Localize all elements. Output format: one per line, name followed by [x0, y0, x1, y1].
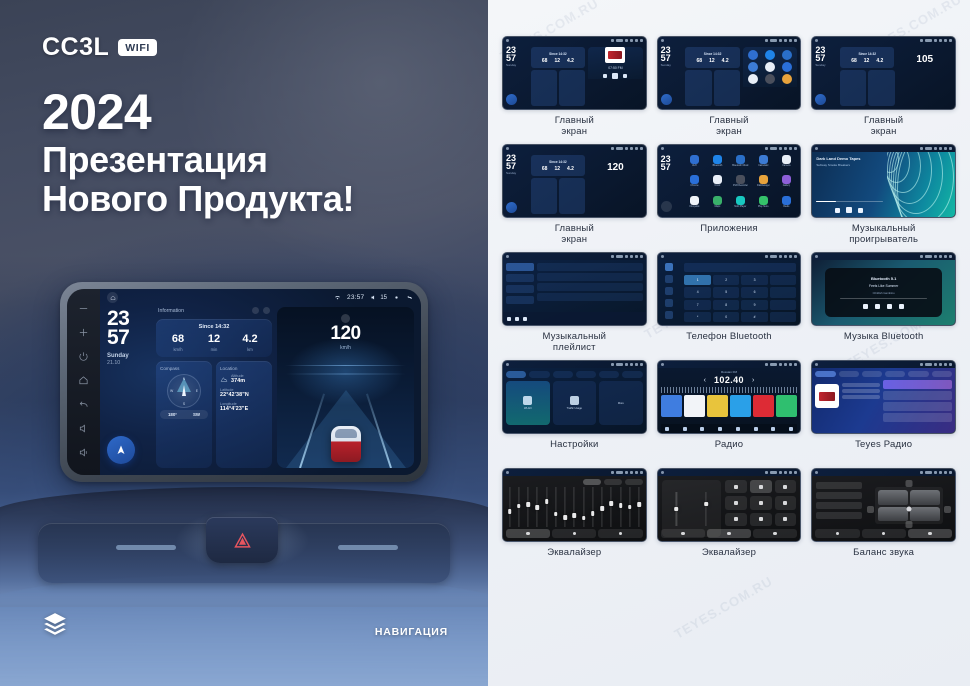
thumb-home-body: 2357SundaySince 14:3268124.2 [658, 44, 801, 109]
thumb-settings: WLANTraffic UsageMore [503, 368, 646, 433]
thumb-app-icon [765, 50, 775, 60]
thumb-app-icon [765, 62, 775, 72]
thumb-eq-slider [628, 487, 631, 527]
thumb-home-icon [506, 147, 509, 150]
screenshot-thumbnail[interactable]: Bluetooth 5.1Feels Like SummerChildish G… [811, 252, 956, 326]
thumb-location [559, 178, 585, 214]
thumb-app-tile: Chrome [684, 175, 704, 193]
thumb-app-tile: Calculator [753, 155, 773, 173]
thumbnail-grid: 2357SundaySince 14:3268124.207:50 FMГлав… [502, 36, 956, 570]
thumb-home-icon [661, 363, 664, 366]
rail-minus-icon[interactable] [77, 302, 90, 315]
gallery-cell: Bluetooth 5.1Feels Like SummerChildish G… [811, 252, 956, 354]
thumb-eq-slider [591, 487, 594, 527]
trip-distance-value: 4.2 [232, 334, 268, 345]
rail-back-icon[interactable] [77, 398, 90, 411]
compass-heading: 180° [168, 412, 177, 417]
car-illustration [331, 426, 361, 462]
thumb-eq-slider [638, 487, 641, 527]
thumb-status-icons [611, 39, 643, 42]
driving-widget[interactable]: 120 km/h [277, 307, 414, 468]
navigation-icon [115, 444, 127, 456]
thumb-status-bar [658, 145, 801, 152]
compass-direction: SW [193, 412, 200, 417]
status-volume[interactable]: 15 [370, 294, 387, 301]
thumb-playlist [503, 260, 646, 325]
status-gear-icon[interactable] [393, 294, 400, 301]
thumb-radio-frequency: 102.40 [714, 375, 744, 385]
thumb-app-tile: Kinopoisk [684, 196, 704, 214]
thumb-status-bar [658, 37, 801, 44]
brand-logo: CC3L WIFI [42, 33, 157, 62]
thumb-compass [840, 70, 866, 106]
thumb-clock: 2357Sunday [658, 44, 684, 109]
thumbnail-caption: Телефон Bluetooth [686, 332, 772, 354]
thumb-dialpad-key: 4 [684, 287, 710, 297]
gallery-cell: 2357SundaySince 14:3268124.2120Главныйэк… [502, 144, 647, 246]
rail-volume-down-icon[interactable] [77, 422, 90, 435]
thumb-eq-slider [527, 487, 530, 527]
trip-distance-unit: km [232, 347, 268, 352]
vent-slot-left [116, 545, 176, 550]
thumb-eq-slider [582, 487, 585, 527]
rail-home-icon[interactable] [77, 374, 90, 387]
thumb-nav-fab [506, 94, 517, 105]
thumb-compass [531, 178, 557, 214]
left-hero-panel: CC3L WIFI 2024 Презентация Нового Продук… [0, 0, 488, 686]
rail-volume-up-icon[interactable] [77, 446, 90, 459]
thumb-dialpad-key [770, 312, 796, 322]
thumb-home-icon [815, 471, 818, 474]
thumbnail-caption: Teyes Радио [855, 440, 912, 462]
thumb-eq-slider [508, 487, 511, 527]
thumb-bt-track: Feels Like Summer [869, 284, 898, 288]
thumb-app-tile: FileManager [753, 175, 773, 193]
thumb-compass [685, 70, 711, 106]
gallery-cell: Эквалайзер [657, 468, 802, 570]
longitude-row: Longitude 114°4'23"E [220, 402, 268, 412]
thumb-radio-preset [776, 395, 797, 417]
thumb-location [868, 70, 894, 106]
gallery-cell: Эквалайзер [502, 468, 647, 570]
thumb-app-tile: Camera [776, 155, 796, 173]
trip-stat: 12 min [196, 334, 232, 352]
thumb-status-bar [503, 145, 646, 152]
thumbnail-caption: Главныйэкран [864, 116, 903, 138]
thumb-home-icon [815, 363, 818, 366]
thumb-dialpad-key [770, 275, 796, 285]
gallery-cell: Баланс звука [811, 468, 956, 570]
gallery-cell: WLANTraffic UsageMoreНастройки [502, 360, 647, 462]
thumb-dialpad-key: # [741, 312, 767, 322]
thumb-app-tile: Play Store [753, 196, 773, 214]
thumb-status-icons [611, 147, 643, 150]
thumb-status-bar [503, 469, 646, 476]
thumb-status-bar [812, 145, 955, 152]
thumb-info-widgets: Since 14:3268124.2 [529, 44, 587, 109]
thumb-status-icons [920, 363, 952, 366]
thumb-radio-preset [730, 395, 751, 417]
compass-north: N [183, 377, 185, 381]
thumb-home-body: 2357SundaySince 14:3268124.207:50 FM [503, 44, 646, 109]
screenshot-thumbnail[interactable]: 2357SundaySince 14:3268124.2120 [502, 144, 647, 218]
thumb-status-icons [765, 363, 797, 366]
thumb-dialpad-key [770, 287, 796, 297]
thumb-bt-phone: 123456789*0# [658, 260, 801, 325]
screenshot-thumbnail[interactable]: WLANTraffic UsageMore [502, 360, 647, 434]
hazard-triangle-icon [234, 532, 251, 549]
thumb-radio-preset [684, 395, 705, 417]
thumb-equalizer-fader [658, 476, 801, 541]
thumb-status-bar [503, 37, 646, 44]
trip-card[interactable]: Since 14:32 68 km/h 12 min [156, 319, 272, 357]
screenshot-thumbnail[interactable] [657, 468, 802, 542]
thumb-location [559, 70, 585, 106]
thumbnail-caption: Главныйэкран [555, 116, 594, 138]
navigation-fab[interactable] [107, 436, 135, 464]
screenshot-thumbnail[interactable]: 2357SundaySince 14:3268124.2105 [811, 36, 956, 110]
thumb-app-icon [765, 74, 775, 84]
thumb-home-body: 2357SundaySince 14:3268124.2120 [503, 152, 646, 217]
thumb-app-icon [782, 62, 792, 72]
screenshot-thumbnail[interactable]: Russian FM‹102.40› [657, 360, 802, 434]
head-unit-screen[interactable]: 23:57 15 [100, 289, 421, 475]
thumb-status-bar [812, 469, 955, 476]
thumb-status-icons [920, 147, 952, 150]
location-title: Location [220, 366, 268, 371]
screenshot-gallery-panel: TEYES.COM.RU TEYES.COM.RU TEYES.COM.RU T… [488, 0, 970, 686]
thumbnail-caption: Главныйэкран [709, 116, 748, 138]
thumb-home-icon [506, 39, 509, 42]
thumb-radio: Russian FM‹102.40› [658, 368, 801, 433]
thumb-radio-preset [707, 395, 728, 417]
thumb-status-bar [503, 253, 646, 260]
clock-minutes: 57 [107, 328, 151, 347]
thumb-dialpad-key: 3 [741, 275, 767, 285]
thumb-balance [812, 476, 955, 541]
presentation-slide: CC3L WIFI 2024 Презентация Нового Продук… [0, 0, 970, 686]
trip-time-unit: min [196, 347, 232, 352]
thumb-speed-value: 120 [588, 162, 643, 173]
thumb-right-widget [742, 44, 801, 109]
thumb-info-widgets: Since 14:3268124.2 [529, 152, 587, 217]
thumb-track-title: Dark Land Demo Tapes [816, 156, 882, 161]
thumb-eq-slider [536, 487, 539, 527]
thumb-dialpad-key: 5 [713, 287, 739, 297]
thumb-media-widget: 07:50 FM [588, 47, 643, 79]
thumb-radio-preset [753, 395, 774, 417]
thumb-status-icons [920, 255, 952, 258]
gallery-cell: Teyes Радио [811, 360, 956, 462]
thumb-app-tile: Gallery [776, 175, 796, 193]
hazard-button[interactable] [206, 517, 278, 563]
latitude-value: 22°42'38"N [220, 392, 268, 398]
screen-body: 23 57 Sunday 21.10 [100, 306, 421, 475]
thumbnail-caption: Эквалайзер [702, 548, 756, 570]
trip-stat: 4.2 km [232, 334, 268, 352]
latitude-row: Latitude 22°42'38"N [220, 388, 268, 398]
screenshot-thumbnail[interactable]: Dark Land Demo TapesSubway Smoke Breaker… [811, 144, 956, 218]
thumb-right-widget: 07:50 FM [587, 44, 646, 109]
thumb-app-icon [748, 50, 758, 60]
layers-icon [42, 611, 68, 642]
thumb-dialpad-key: * [684, 312, 710, 322]
thumb-status-icons [765, 255, 797, 258]
information-expand-icon[interactable] [263, 307, 270, 314]
thumb-home-icon [661, 39, 664, 42]
status-wifi-icon [334, 294, 341, 301]
information-title: Information [158, 308, 248, 314]
trip-speed-unit: km/h [160, 347, 196, 352]
thumbnail-caption: Настройки [550, 440, 598, 462]
information-settings-icon[interactable] [252, 307, 259, 314]
trip-time-value: 12 [196, 334, 232, 345]
navigation-label: НАВИГАЦИЯ [375, 626, 448, 638]
thumb-dialpad-key [770, 300, 796, 310]
thumb-status-bar [812, 361, 955, 368]
clock-weekday: Sunday [107, 353, 151, 359]
gallery-cell: Russian FM‹102.40›Радио [657, 360, 802, 462]
screenshot-thumbnail[interactable]: 2357SundaySince 14:3268124.207:50 FM [502, 36, 647, 110]
thumbnail-caption: Радио [715, 440, 743, 462]
thumb-app-icon [782, 50, 792, 60]
thumb-status-icons [920, 471, 952, 474]
clock-date: 21.10 [107, 360, 151, 366]
gallery-cell: 123456789*0#Телефон Bluetooth [657, 252, 802, 354]
thumb-nav-fab [661, 94, 672, 105]
thumb-clock: 2357Sunday [503, 152, 529, 217]
screenshot-thumbnail[interactable]: 123456789*0# [657, 252, 802, 326]
headline: 2024 Презентация Нового Продукта! [42, 88, 354, 219]
thumb-eq-slider [554, 487, 557, 527]
longitude-value: 114°4'23"E [220, 406, 268, 412]
thumb-radio-band: Russian FM [661, 370, 798, 374]
trip-speed-value: 68 [160, 334, 196, 345]
thumb-eq-slider [601, 487, 604, 527]
thumb-info-widgets: Since 14:3268124.2 [683, 44, 741, 109]
status-home-icon[interactable] [107, 292, 118, 303]
thumb-radio-preset [661, 395, 682, 417]
thumb-home-icon [815, 255, 818, 258]
thumb-dialpad-key: 0 [713, 312, 739, 322]
thumbnail-caption: Эквалайзер [547, 548, 601, 570]
gallery-cell: 2357SundaySince 14:3268124.2105Главныйэк… [811, 36, 956, 138]
rail-plus-icon[interactable] [77, 326, 90, 339]
trip-since: Since 14:32 [160, 324, 268, 330]
compass-card[interactable]: Compass N S W E [156, 361, 212, 468]
headline-line2: Нового Продукта! [42, 180, 354, 219]
thumb-app-tile: DVR Recorder [730, 175, 750, 193]
clock-column: 23 57 Sunday 21.10 [107, 307, 151, 468]
head-unit: 23:57 15 [60, 282, 428, 482]
thumb-home-icon [661, 147, 664, 150]
thumbnail-caption: Музыкальныйплейлист [542, 332, 606, 354]
thumb-eq-slider [517, 487, 520, 527]
gallery-cell: 2357SundaySince 14:3268124.2Главныйэкран [657, 36, 802, 138]
status-bar: 23:57 15 [100, 289, 421, 306]
altitude-row: Altitude 374m [220, 374, 268, 384]
information-header: Information [156, 307, 272, 315]
thumb-app-tile: Bluetooth Music [730, 155, 750, 173]
screenshot-thumbnail[interactable] [502, 252, 647, 326]
headline-year: 2024 [42, 88, 354, 136]
thumb-status-bar [658, 361, 801, 368]
watermark: TEYES.COM.RU [672, 573, 776, 641]
thumb-status-icons [611, 255, 643, 258]
thumb-eq-slider [610, 487, 613, 527]
thumb-status-icons [765, 147, 797, 150]
thumb-bt-version: Bluetooth 5.1 [871, 276, 896, 281]
screenshot-thumbnail[interactable] [811, 468, 956, 542]
rail-power-icon[interactable] [77, 350, 90, 363]
thumb-eq-slider [564, 487, 567, 527]
thumb-bt-music: Bluetooth 5.1Feels Like SummerChildish G… [812, 260, 955, 325]
thumb-nav-fab [506, 202, 517, 213]
thumb-app-tile: Radio [776, 196, 796, 214]
car-dashboard: 23:57 15 [0, 255, 488, 686]
thumb-home-icon [815, 39, 818, 42]
screenshot-thumbnail[interactable]: 2357SundaySince 14:3268124.2 [657, 36, 802, 110]
mountain-icon [220, 375, 228, 383]
compass-east: E [196, 389, 198, 393]
thumb-dialpad-key: 8 [713, 300, 739, 310]
thumb-speed-value: 105 [897, 54, 952, 65]
thumb-info-widgets: Since 14:3268124.2 [838, 44, 896, 109]
trip-stat: 68 km/h [160, 334, 196, 352]
compass-readout: 180° SW [160, 410, 208, 419]
thumb-home-icon [506, 363, 509, 366]
status-back-icon[interactable] [406, 294, 413, 301]
thumb-app-drawer [743, 47, 798, 87]
headline-line1: Презентация [42, 141, 354, 180]
thumb-status-icons [765, 471, 797, 474]
thumb-location [714, 70, 740, 106]
compass-title: Compass [160, 366, 208, 371]
vent-slot-right [338, 545, 398, 550]
head-unit-bezel: 23:57 15 [67, 289, 421, 475]
thumb-status-bar [503, 361, 646, 368]
horizon-line-secondary [285, 373, 406, 375]
thumb-home-icon [661, 255, 664, 258]
thumb-apps-screen: 2357AUXBluetoothBluetooth MusicCalculato… [658, 152, 801, 217]
compass-dial: N S W E [167, 374, 201, 408]
thumbnail-caption: Музыка Bluetooth [844, 332, 924, 354]
location-card[interactable]: Location Altitude 374m [216, 361, 272, 468]
thumb-right-widget: 105 [896, 44, 955, 109]
thumb-app-icon [748, 62, 758, 72]
thumb-home-icon [506, 471, 509, 474]
screenshot-thumbnail[interactable]: 2357AUXBluetoothBluetooth MusicCalculato… [657, 144, 802, 218]
brand-name: CC3L [42, 33, 109, 62]
thumb-dialpad-key: 2 [713, 275, 739, 285]
thumb-compass [531, 70, 557, 106]
speed-readout: 120 km/h [277, 314, 414, 351]
thumbnail-caption: Приложения [700, 224, 758, 246]
speed-unit: km/h [277, 345, 414, 351]
thumb-teyes-radio [812, 368, 955, 433]
thumb-app-tile: Maps [707, 196, 727, 214]
thumb-status-icons [765, 39, 797, 42]
screenshot-thumbnail[interactable] [502, 468, 647, 542]
gallery-cell: 2357SundaySince 14:3268124.207:50 FMГлав… [502, 36, 647, 138]
thumb-status-bar [658, 469, 801, 476]
thumb-dialpad-key: 9 [741, 300, 767, 310]
gallery-cell: Музыкальныйплейлист [502, 252, 647, 354]
thumb-eq-slider [573, 487, 576, 527]
thumb-status-bar [812, 253, 955, 260]
speed-value: 120 [277, 324, 414, 343]
thumb-clock: 2357Sunday [503, 44, 529, 109]
thumb-app-icon [748, 74, 758, 84]
thumb-music-player: Dark Land Demo TapesSubway Smoke Breaker… [812, 152, 955, 217]
status-volume-value: 15 [380, 295, 387, 301]
thumb-status-bar [812, 37, 955, 44]
thumbnail-caption: Главныйэкран [555, 224, 594, 246]
thumb-app-tile: Clock [707, 175, 727, 193]
thumbnail-caption: Музыкальныйпроигрыватель [849, 224, 918, 246]
altitude-value: 374m [231, 378, 245, 384]
speed-icon [341, 314, 350, 323]
compass-needle [182, 385, 186, 396]
thumbnail-caption: Баланс звука [853, 548, 914, 570]
head-unit-side-rail[interactable] [67, 289, 100, 475]
thumb-status-icons [611, 363, 643, 366]
compass-south: S [183, 402, 185, 406]
thumb-app-icon [782, 74, 792, 84]
gallery-cell: 2357AUXBluetoothBluetooth MusicCalculato… [657, 144, 802, 246]
thumb-dialpad-key: 7 [684, 300, 710, 310]
thumb-eq-slider [545, 487, 548, 527]
gallery-cell: Dark Land Demo TapesSubway Smoke Breaker… [811, 144, 956, 246]
thumb-home-icon [815, 147, 818, 150]
thumb-app-tile: Bluetooth [707, 155, 727, 173]
screenshot-thumbnail[interactable] [811, 360, 956, 434]
thumb-status-icons [920, 39, 952, 42]
thumb-app-tile: AUX [684, 155, 704, 173]
thumb-clock: 2357Sunday [812, 44, 838, 109]
info-column: Information Since 14:32 68 [156, 307, 272, 468]
thumb-dialpad-key: 6 [741, 287, 767, 297]
thumb-eq-slider [619, 487, 622, 527]
thumb-nav-fab [815, 94, 826, 105]
thumb-right-widget: 120 [587, 152, 646, 217]
thumb-home-icon [661, 471, 664, 474]
thumb-dialpad-key: 1 [684, 275, 710, 285]
thumb-home-icon [506, 255, 509, 258]
brand-wifi-badge: WIFI [118, 39, 157, 56]
thumb-status-icons [611, 471, 643, 474]
thumb-app-tile: Multi Player [730, 196, 750, 214]
clock-widget: 23 57 Sunday 21.10 [107, 309, 151, 366]
thumb-equalizer [503, 476, 646, 541]
compass-west: W [170, 389, 173, 393]
thumb-home-body: 2357SundaySince 14:3268124.2105 [812, 44, 955, 109]
status-clock: 23:57 [347, 294, 364, 301]
thumb-status-bar [658, 253, 801, 260]
